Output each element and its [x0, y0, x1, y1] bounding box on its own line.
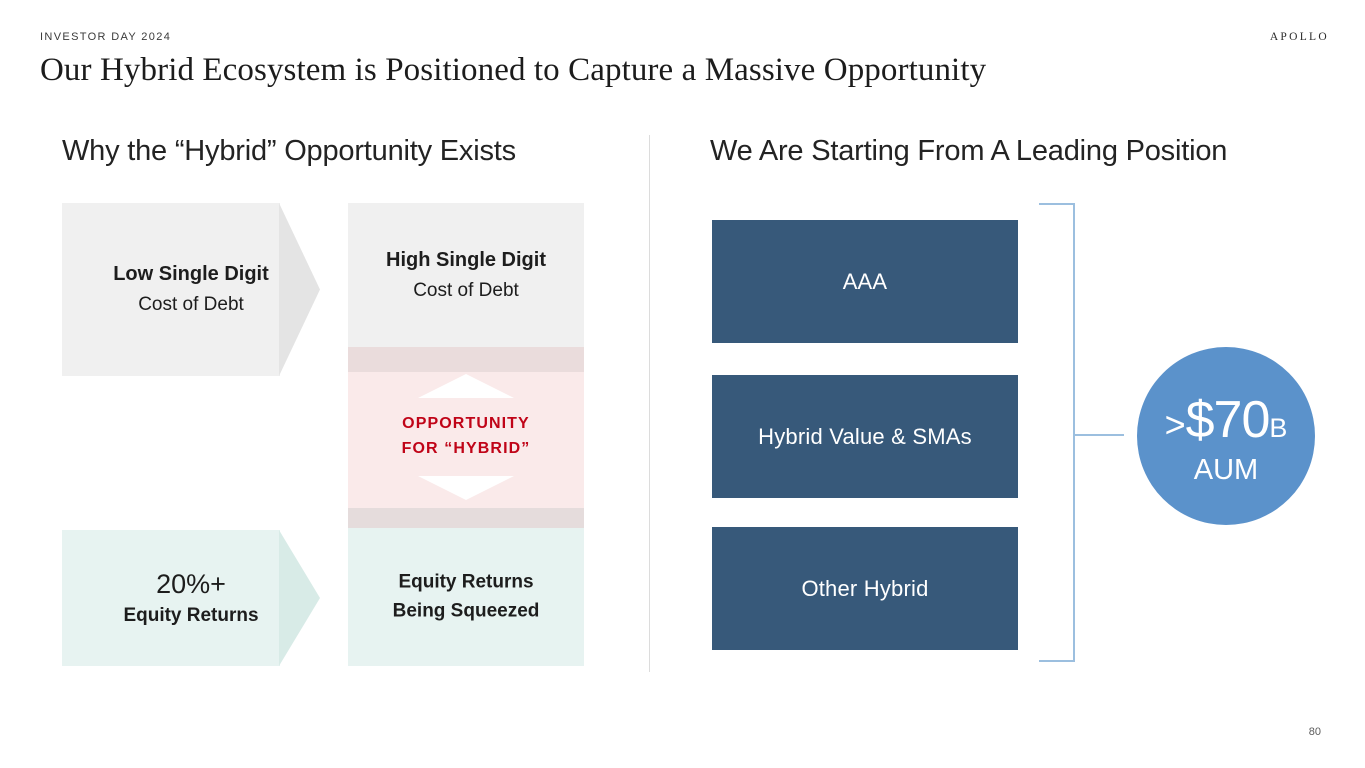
opportunity-callout-line1: OPPORTUNITY [348, 412, 584, 437]
source-box-labels: 20%+ Equity Returns [82, 566, 300, 631]
bracket-top-arm [1039, 203, 1075, 205]
bracket-spine [1073, 203, 1075, 662]
right-diagram: AAA Hybrid Value & SMAs Other Hybrid > $… [649, 0, 1365, 768]
result-segment-equity-returns: Equity Returns Being Squeezed [348, 528, 584, 666]
source-box-cost-of-debt: Low Single Digit Cost of Debt [62, 203, 320, 376]
opportunity-callout: OPPORTUNITY FOR “HYBRID” [348, 372, 584, 502]
left-diagram: Low Single Digit Cost of Debt 20%+ Equit… [0, 0, 649, 768]
source-box-equity-returns: 20%+ Equity Returns [62, 530, 320, 666]
opportunity-callout-line2: FOR “HYBRID” [348, 437, 584, 462]
result-bottom-line2: Being Squeezed [348, 597, 584, 626]
source-box-labels: Low Single Digit Cost of Debt [82, 259, 300, 319]
opportunity-callout-text: OPPORTUNITY FOR “HYBRID” [348, 412, 584, 462]
result-top-secondary: Cost of Debt [348, 276, 584, 305]
aum-bubble: > $70 B AUM [1137, 347, 1315, 525]
grouping-bracket [1029, 200, 1149, 665]
aum-caption: AUM [1194, 456, 1258, 485]
source-box-primary: 20%+ [82, 566, 300, 602]
strategy-box-aaa: AAA [712, 220, 1018, 343]
chevron-down-icon [418, 476, 514, 500]
result-top-primary: High Single Digit [348, 245, 584, 276]
aum-amount-row: > $70 B [1165, 394, 1288, 446]
source-box-secondary: Cost of Debt [82, 290, 300, 319]
result-top-labels: High Single Digit Cost of Debt [348, 245, 584, 305]
aum-prefix: > [1165, 407, 1186, 443]
band-upper-edge [348, 347, 584, 372]
result-bottom-labels: Equity Returns Being Squeezed [348, 569, 584, 626]
source-box-secondary: Equity Returns [82, 602, 300, 631]
aum-amount: $70 [1186, 394, 1270, 446]
slide: INVESTOR DAY 2024 APOLLO Our Hybrid Ecos… [0, 0, 1365, 768]
bracket-bottom-arm [1039, 660, 1075, 662]
result-segment-cost-of-debt: High Single Digit Cost of Debt [348, 203, 584, 347]
aum-unit: B [1269, 415, 1287, 442]
strategy-box-other-hybrid: Other Hybrid [712, 527, 1018, 650]
strategy-box-hybrid-value-smas: Hybrid Value & SMAs [712, 375, 1018, 498]
source-box-primary: Low Single Digit [82, 259, 300, 290]
bracket-connector [1074, 434, 1124, 436]
result-bottom-line1: Equity Returns [348, 569, 584, 598]
page-number: 80 [1309, 726, 1321, 738]
band-lower-edge [348, 508, 584, 528]
chevron-up-icon [418, 374, 514, 398]
